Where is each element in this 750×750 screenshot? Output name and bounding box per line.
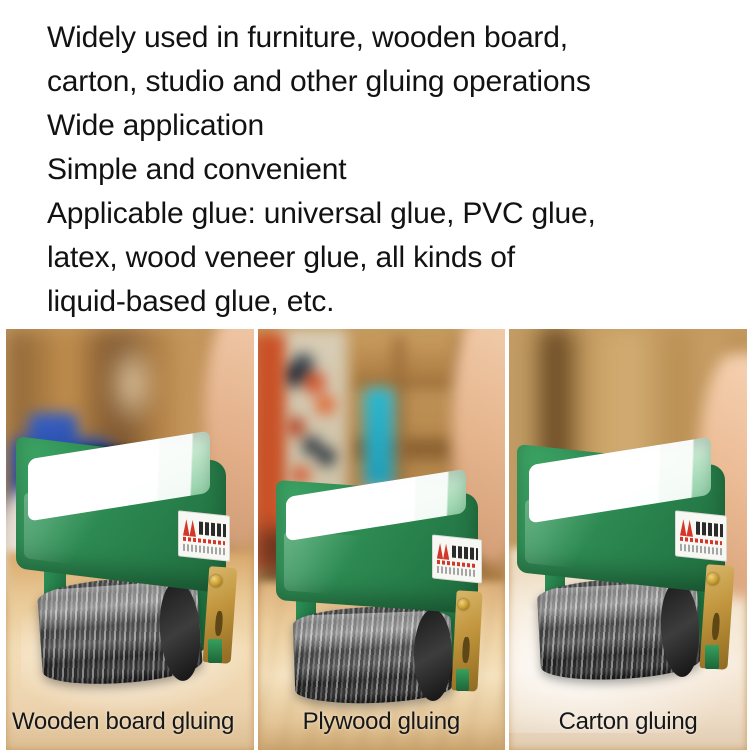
description-line-7: liquid-based glue, etc. bbox=[47, 280, 740, 324]
label-fine-print bbox=[680, 543, 722, 554]
bracket-screw bbox=[707, 573, 719, 585]
brand-name-text bbox=[696, 521, 723, 537]
glue-applicator-tool bbox=[515, 447, 741, 687]
description-line-6: latex, wood veneer glue, all kinds of bbox=[47, 236, 740, 280]
bracket-screw bbox=[458, 599, 469, 610]
description-line-1: Widely used in furniture, wooden board, bbox=[47, 16, 740, 60]
bracket-screw bbox=[210, 575, 222, 587]
product-feature-image: Widely used in furniture, wooden board, … bbox=[0, 0, 750, 750]
bracket-green-tip bbox=[208, 639, 222, 663]
photo-caption-wooden-board: Wooden board gluing bbox=[6, 708, 254, 736]
bracket-green-tip bbox=[456, 669, 469, 691]
product-photo-wooden-board: Wooden board gluing bbox=[6, 329, 254, 750]
brand-logo-icon bbox=[680, 519, 693, 537]
brand-label-sticker bbox=[675, 510, 727, 561]
description-line-2: carton, studio and other gluing operatio… bbox=[47, 60, 740, 104]
brand-label-sticker bbox=[432, 534, 482, 583]
bracket-slot bbox=[711, 613, 720, 640]
photo-caption-carton: Carton gluing bbox=[509, 708, 747, 736]
glue-applicator-tool bbox=[272, 479, 494, 709]
product-photo-plywood: Plywood gluing bbox=[258, 329, 506, 750]
bracket-slot bbox=[461, 637, 469, 663]
brand-name-text bbox=[452, 545, 478, 560]
roller-end-cap bbox=[414, 609, 452, 701]
bracket-slot bbox=[214, 611, 223, 636]
product-photo-strip: Wooden board gluing bbox=[0, 329, 750, 750]
description-line-4: Simple and convenient bbox=[47, 148, 740, 192]
brand-label-sticker bbox=[178, 510, 230, 561]
brand-logo-icon bbox=[183, 519, 196, 537]
bracket-green-tip bbox=[705, 645, 719, 669]
background-light bbox=[105, 337, 159, 430]
brand-name-text bbox=[199, 521, 226, 537]
photo-caption-plywood: Plywood gluing bbox=[258, 708, 506, 736]
description-line-5: Applicable glue: universal glue, PVC glu… bbox=[47, 192, 740, 236]
hopper-sheen bbox=[284, 531, 365, 597]
description-block: Widely used in furniture, wooden board, … bbox=[0, 0, 750, 329]
glue-applicator-tool bbox=[10, 439, 248, 689]
brand-logo-icon bbox=[436, 543, 448, 560]
label-fine-print bbox=[183, 543, 225, 554]
product-photo-carton: Carton gluing bbox=[509, 329, 747, 750]
label-fine-print bbox=[436, 566, 476, 577]
description-line-3: Wide application bbox=[47, 104, 740, 148]
